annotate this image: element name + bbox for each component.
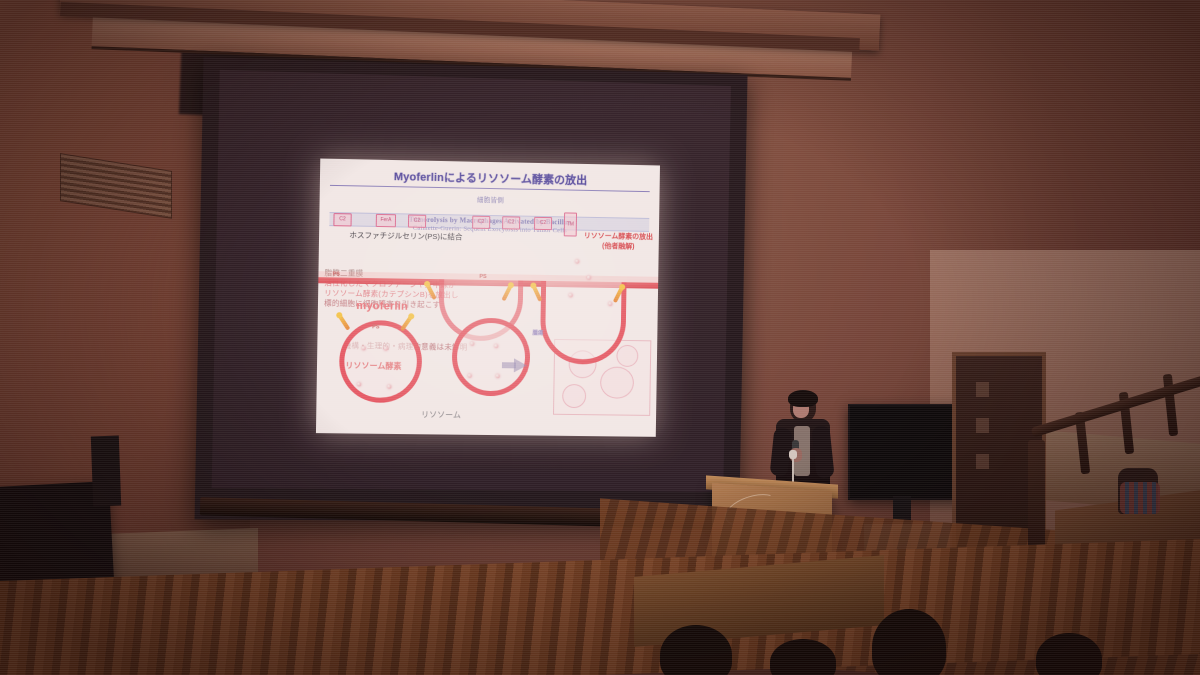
ps-label: PS (333, 271, 341, 277)
domain-tag: C2 (408, 214, 426, 227)
myoferlin-anchor-icon (338, 314, 351, 331)
flat-panel-display-right (848, 404, 964, 500)
presentation-slide: Myoferlinによるリソソーム酵素の放出 細胞皆側 Tumorolysis … (316, 159, 660, 437)
enzyme-granule (387, 385, 391, 389)
lecture-hall-photo: Myoferlinによるリソソーム酵素の放出 細胞皆側 Tumorolysis … (0, 0, 1200, 675)
lysosomal-enzyme-label: リソソーム酵素 (345, 360, 401, 372)
release-annotation: リソソーム酵素の放出 (他者融解) (584, 232, 653, 253)
domain-tag: TM (564, 212, 577, 236)
ps-label: PS (479, 274, 486, 280)
enzyme-granule (494, 344, 498, 348)
ps-binding-note: ホスファチジルセリン(PS)に結合 (349, 229, 462, 242)
enzyme-granule (569, 293, 573, 297)
domain-tag: C2 (502, 216, 520, 229)
presenter-hair (788, 390, 818, 407)
enzyme-granule (384, 347, 388, 351)
lysosome-label: リソソーム (421, 409, 461, 420)
domain-tag: C2 (534, 217, 552, 230)
enzyme-granule (587, 276, 591, 280)
domain-tag: C2 (472, 216, 490, 229)
cell-shape (562, 384, 586, 408)
foreground-audience-head (872, 609, 946, 675)
ps-label: PS (372, 324, 379, 330)
display-edge-left (91, 436, 121, 507)
lysosome-vesicle (451, 317, 530, 396)
domain-tag: C2 (333, 213, 351, 226)
cell-shape (600, 367, 634, 399)
microphone-icon (789, 450, 797, 459)
enzyme-granule (357, 382, 361, 386)
door-window (976, 418, 989, 433)
myoferlin-label: myoferlin (356, 300, 408, 313)
slide-subtitle: 細胞皆側 (320, 191, 660, 208)
cell-shape (616, 345, 638, 367)
enzyme-granule (608, 302, 612, 306)
release-line-1: リソソーム酵素の放出 (584, 233, 653, 241)
enzyme-granule (496, 374, 500, 378)
door-window (976, 454, 989, 469)
process-arrow-icon (514, 358, 527, 372)
enzyme-granule (468, 374, 472, 378)
enzyme-granule (575, 259, 579, 263)
enzyme-granule (470, 342, 474, 346)
enzyme-granule (362, 346, 366, 350)
audience-member-clothing (1120, 482, 1160, 514)
release-line-2: (他者融解) (602, 243, 634, 251)
domain-tag: FerA (376, 214, 396, 227)
cell-label: 腫瘍 (532, 329, 543, 337)
door-window (976, 382, 989, 397)
